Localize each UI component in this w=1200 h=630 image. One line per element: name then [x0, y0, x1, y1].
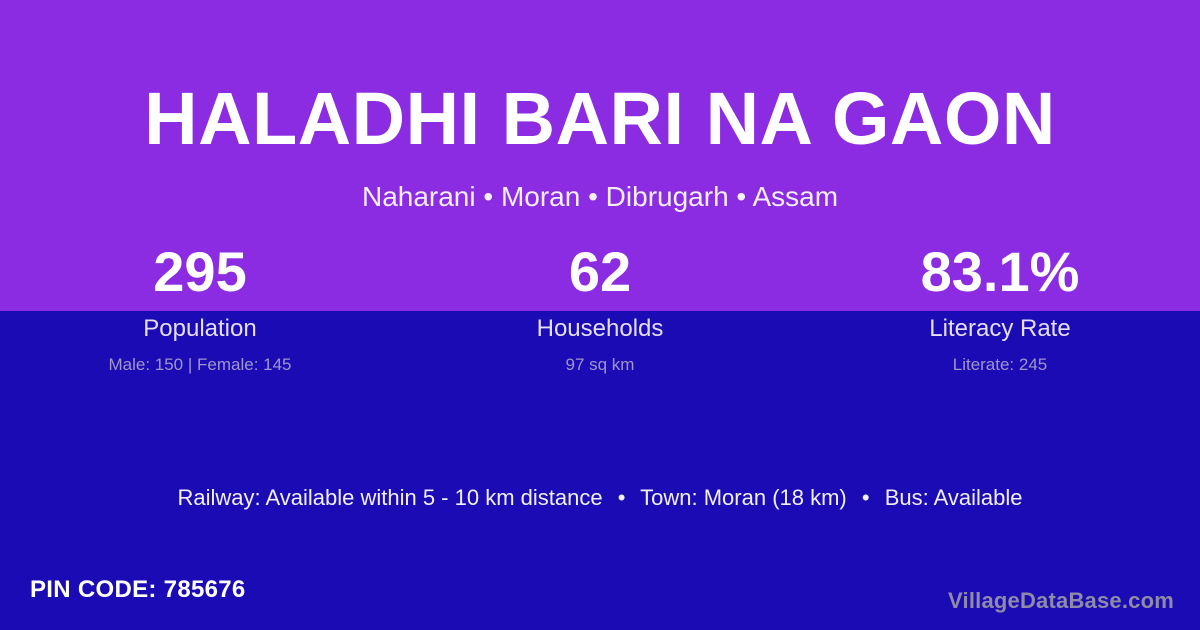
stat-value-literacy-rate: 83.1% — [800, 243, 1200, 301]
pin-code: PIN CODE: 785676 — [30, 578, 246, 602]
location-breadcrumb: Naharani • Moran • Dibrugarh • Assam — [0, 183, 1200, 211]
infra-separator-1: • — [609, 485, 635, 510]
stat-population: 295 Population Male: 150 | Female: 145 — [0, 243, 400, 375]
stat-value-population: 295 — [0, 243, 400, 301]
page-title: HALADHI BARI NA GAON — [0, 82, 1200, 156]
stat-value-households: 62 — [400, 243, 800, 301]
stat-label-population: Population — [0, 315, 400, 343]
village-info-card: HALADHI BARI NA GAON Naharani • Moran • … — [0, 0, 1200, 630]
stat-sub-population: Male: 150 | Female: 145 — [0, 355, 400, 375]
infra-separator-2: • — [853, 485, 879, 510]
stat-sub-households: 97 sq km — [400, 355, 800, 375]
stat-literacy-rate: 83.1% Literacy Rate Literate: 245 — [800, 243, 1200, 375]
stat-label-households: Households — [400, 315, 800, 343]
infra-town: Town: Moran (18 km) — [640, 485, 847, 510]
stat-label-literacy-rate: Literacy Rate — [800, 315, 1200, 343]
infra-railway: Railway: Available within 5 - 10 km dist… — [177, 485, 602, 510]
infra-bus: Bus: Available — [885, 485, 1023, 510]
stat-households: 62 Households 97 sq km — [400, 243, 800, 375]
site-branding: VillageDataBase.com — [948, 590, 1174, 612]
infrastructure-line: Railway: Available within 5 - 10 km dist… — [0, 487, 1200, 509]
stat-sub-literacy-rate: Literate: 245 — [800, 355, 1200, 375]
stats-row: 295 Population Male: 150 | Female: 145 6… — [0, 243, 1200, 375]
